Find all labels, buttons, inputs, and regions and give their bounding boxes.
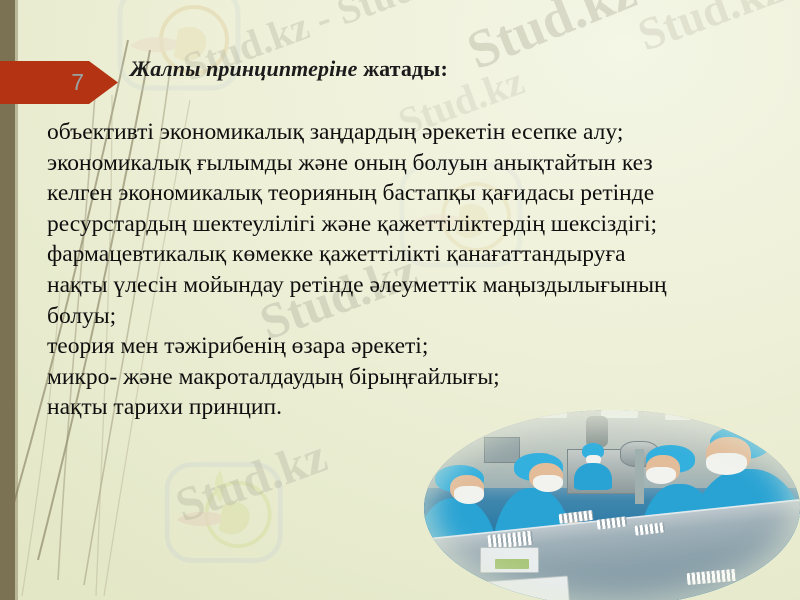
watermark-stud-kz-top-right: Stud.kz [631,0,790,61]
hummingbird-logo-watermark [155,455,300,570]
title-italic-part: Жалпы принциптеріне [130,56,357,81]
body-line: нақты үлесін мойындау ретінде әлеуметтік… [47,270,789,301]
body-line: теория мен тәжірибенің өзара әрекеті; [47,331,789,362]
photo-content [424,410,800,600]
body-text-block: объективті экономикалық заңдардың әрекет… [47,117,789,423]
slide-number: 7 [71,71,118,94]
body-line: экономикалық ғылымды және оның болуын ан… [47,148,789,179]
body-line: болуы; [47,301,789,332]
body-line: микро- және макроталдаудың бірыңғайлығы; [47,362,789,393]
photo-vignette [424,410,800,600]
watermark-stud-kz: Stud.kz [458,0,644,82]
body-line: келген экономикалық теорияның бастапқы қ… [47,178,789,209]
slide-number-badge: 7 [0,61,118,104]
pharmaceutical-production-photo [424,410,800,600]
body-line: фармацевтикалық көмекке қажеттілікті қан… [47,239,789,270]
body-line: объективті экономикалық заңдардың әрекет… [47,117,789,148]
watermark-stud-kz-lower: Stud.kz [169,428,334,533]
photo-ceiling-light [477,416,511,424]
page-title: Жалпы принциптеріне жатады: [130,56,448,82]
body-line: ресурстардың шектеулілігі және қажеттілі… [47,209,789,240]
title-upright-part: жатады: [363,56,448,81]
hummingbird-logo-watermark-top [108,0,258,98]
presentation-slide: Stud.kz Stud.kz - Stud.kz Stud.kz Stud.k… [0,0,800,600]
